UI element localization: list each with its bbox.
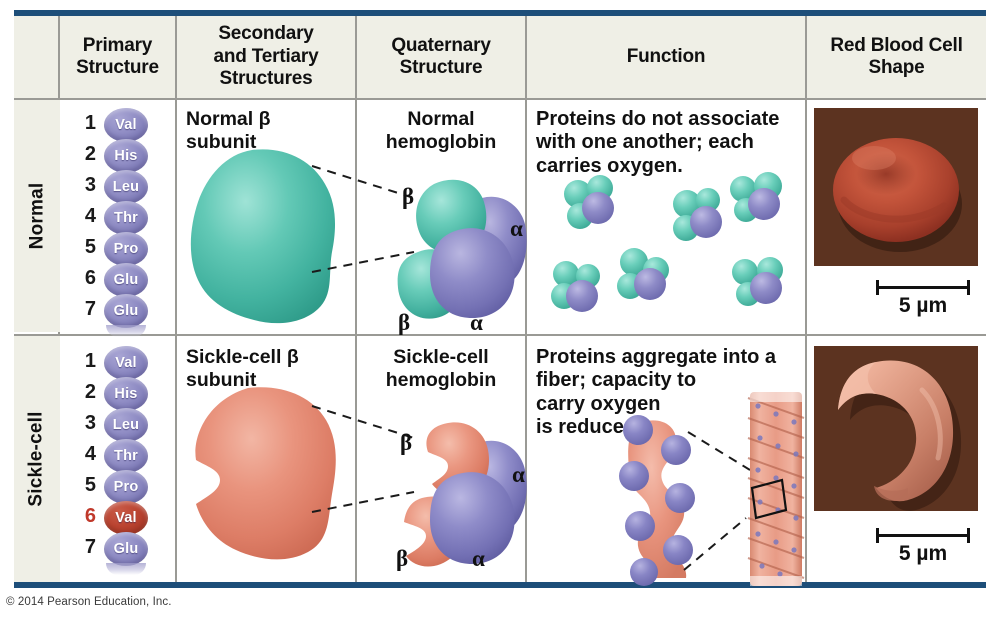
residue-bead-row: 1 Val <box>76 346 172 377</box>
residue-bead: Val <box>104 108 148 142</box>
header-line: and Tertiary <box>214 46 319 67</box>
residue-bead-row: 7 Glu <box>76 294 172 325</box>
column-header-primary-structure: Primary Structure <box>60 16 175 98</box>
residue-bead-row: 6 Glu <box>76 263 172 294</box>
residue-bead: Thr <box>104 201 148 235</box>
residue-bead: Pro <box>104 232 148 266</box>
residue-bead-row: 3 Leu <box>76 408 172 439</box>
column-header-secondary-tertiary: Secondary and Tertiary Structures <box>177 16 355 98</box>
scale-bar-sickle <box>876 528 970 542</box>
residue-position: 5 <box>76 236 96 259</box>
normal-hemoglobin-molecule <box>396 168 536 328</box>
grid-line-horizontal <box>14 334 986 336</box>
column-header-rbc-shape: Red Blood Cell Shape <box>807 16 986 98</box>
header-line: Quaternary <box>391 35 490 56</box>
residue-bead: Thr <box>104 439 148 473</box>
primary-structure-chain-normal: 1 Val 2 His 3 Leu 4 Thr 5 Pro 6 Glu <box>76 108 172 325</box>
residue-position: 5 <box>76 474 96 497</box>
header-line: Secondary <box>218 23 313 44</box>
primary-structure-chain-sickle: 1 Val 2 His 3 Leu 4 Thr 5 Pro 6 Val <box>76 346 172 563</box>
residue-position: 4 <box>76 205 96 228</box>
function-text-normal: Proteins do not associate with one anoth… <box>536 108 806 178</box>
residue-bead-row: 5 Pro <box>76 232 172 263</box>
residue-position-mutated: 6 <box>76 505 96 528</box>
residue-bead: His <box>104 377 148 411</box>
rbc-micrograph-sickle <box>814 346 978 511</box>
residue-position: 4 <box>76 443 96 466</box>
header-line: Structures <box>219 68 312 89</box>
residue-position: 7 <box>76 536 96 559</box>
residue-bead-row: 2 His <box>76 377 172 408</box>
alpha-label-bottom-sickle: α <box>472 546 485 572</box>
column-header-quaternary: Quaternary Structure <box>357 16 525 98</box>
residue-bead: Glu <box>104 263 148 297</box>
row-label-normal: Normal <box>14 100 60 332</box>
chain-continuation <box>106 563 146 575</box>
copyright-credit: © 2014 Pearson Education, Inc. <box>6 596 172 608</box>
scale-label-normal: 5 µm <box>876 294 970 318</box>
header-line: Function <box>627 46 706 67</box>
row-label-sickle-cell: Sickle-cell <box>14 336 60 582</box>
residue-position: 6 <box>76 267 96 290</box>
beta-label-bottom-normal: β <box>398 310 410 336</box>
header-line: Red Blood Cell <box>830 35 962 56</box>
beta-label-top-normal: β <box>402 184 414 210</box>
residue-bead: His <box>104 139 148 173</box>
beta-label-bottom-sickle: β <box>396 546 408 572</box>
scale-label-sickle: 5 µm <box>876 542 970 566</box>
residue-position: 7 <box>76 298 96 321</box>
residue-position: 2 <box>76 143 96 166</box>
column-header-function: Function <box>527 16 805 98</box>
quaternary-label-normal: Normal hemoglobin <box>366 108 516 154</box>
residue-bead-row: 4 Thr <box>76 439 172 470</box>
residue-bead: Leu <box>104 408 148 442</box>
header-line: Structure <box>400 57 483 78</box>
residue-position: 2 <box>76 381 96 404</box>
beta-label-top-sickle: β <box>400 430 412 456</box>
alpha-label-right-sickle: α <box>512 462 525 488</box>
hemoglobin-aggregate-and-fiber <box>614 414 806 584</box>
grid-line-horizontal <box>14 98 986 100</box>
rbc-micrograph-normal <box>814 108 978 266</box>
alpha-label-bottom-normal: α <box>470 310 483 336</box>
residue-position: 3 <box>76 412 96 435</box>
residue-bead: Glu <box>104 532 148 566</box>
residue-bead-mutated: Val <box>104 501 148 535</box>
header-line: Structure <box>76 57 159 78</box>
residue-bead-row: 2 His <box>76 139 172 170</box>
sickle-cell-comparison-figure: Primary Structure Secondary and Tertiary… <box>0 0 1000 621</box>
residue-bead-row: 1 Val <box>76 108 172 139</box>
comparison-table: Primary Structure Secondary and Tertiary… <box>14 10 986 588</box>
quaternary-label-sickle: Sickle-cell hemoglobin <box>366 346 516 392</box>
header-line: Shape <box>868 57 924 78</box>
grid-line-vertical <box>175 16 177 582</box>
residue-bead: Val <box>104 346 148 380</box>
residue-position: 3 <box>76 174 96 197</box>
scale-bar-normal <box>876 280 970 294</box>
residue-bead: Pro <box>104 470 148 504</box>
header-line: Primary <box>83 35 152 56</box>
residue-bead: Glu <box>104 294 148 328</box>
residue-bead-row: 4 Thr <box>76 201 172 232</box>
alpha-label-right-normal: α <box>510 216 523 242</box>
residue-position: 1 <box>76 112 96 135</box>
residue-position: 1 <box>76 350 96 373</box>
dispersed-hemoglobin-molecules <box>534 174 804 326</box>
residue-bead-row: 5 Pro <box>76 470 172 501</box>
residue-bead: Leu <box>104 170 148 204</box>
sickle-hemoglobin-molecule <box>394 414 536 574</box>
chain-continuation <box>106 325 146 337</box>
residue-bead-row-mutated: 6 Val <box>76 501 172 532</box>
residue-bead-row: 7 Glu <box>76 532 172 563</box>
residue-bead-row: 3 Leu <box>76 170 172 201</box>
